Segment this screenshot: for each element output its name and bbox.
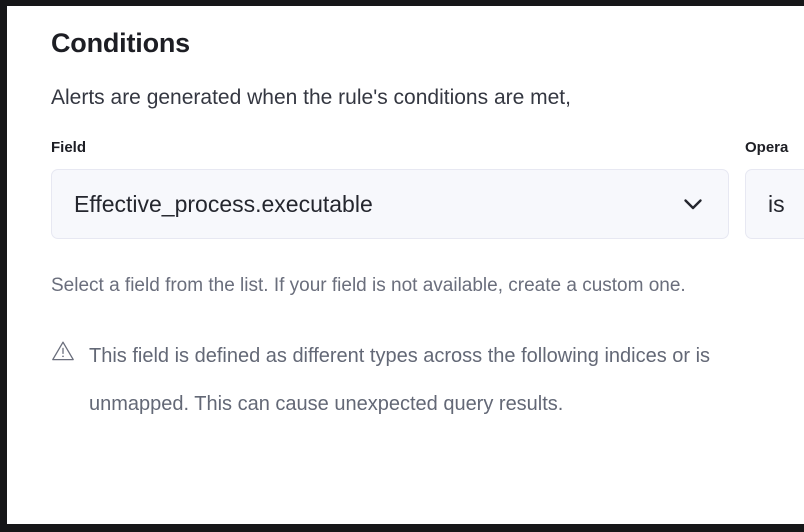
page-title: Conditions [51, 26, 804, 60]
screenshot-frame: Conditions Alerts are generated when the… [0, 0, 804, 532]
warning-triangle-icon [51, 339, 75, 363]
condition-row: Field Effective_process.executable Opera [51, 138, 804, 258]
field-column: Field Effective_process.executable [51, 138, 729, 239]
field-label: Field [51, 138, 729, 158]
field-warning: This field is defined as different types… [51, 332, 711, 428]
field-warning-text: This field is defined as different types… [89, 332, 711, 428]
field-select[interactable]: Effective_process.executable [51, 169, 729, 239]
operator-select-value: is [768, 190, 804, 218]
conditions-panel: Conditions Alerts are generated when the… [51, 26, 804, 428]
field-select-value: Effective_process.executable [74, 190, 670, 218]
content-surface: Conditions Alerts are generated when the… [7, 6, 804, 524]
operator-select[interactable]: is [745, 169, 804, 239]
field-helper-text: Select a field from the list. If your fi… [51, 270, 691, 302]
operator-label: Opera [745, 138, 804, 158]
chevron-down-icon[interactable] [680, 191, 706, 217]
panel-description: Alerts are generated when the rule's con… [51, 84, 804, 112]
operator-column: Opera is [745, 138, 804, 239]
